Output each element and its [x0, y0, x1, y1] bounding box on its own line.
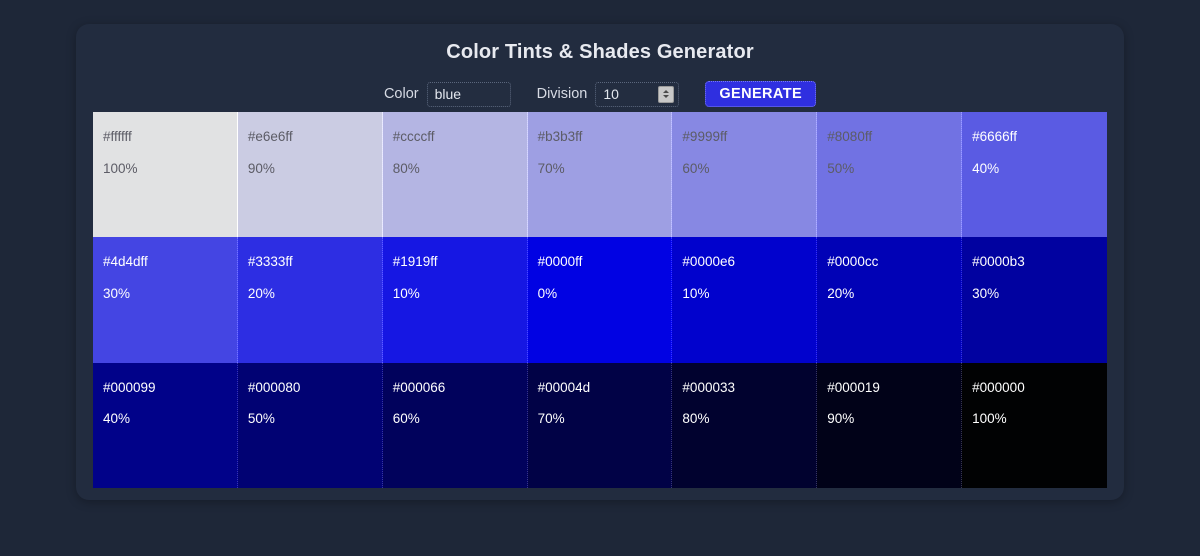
color-swatch[interactable]: #0000b330% — [962, 237, 1107, 362]
color-swatch[interactable]: #000000100% — [962, 363, 1107, 488]
color-swatch[interactable]: #00006660% — [383, 363, 528, 488]
color-swatch[interactable]: #00001990% — [817, 363, 962, 488]
swatch-hex-label: #000019 — [827, 381, 961, 395]
swatch-hex-label: #e6e6ff — [248, 130, 382, 144]
swatch-hex-label: #1919ff — [393, 255, 527, 269]
color-swatch[interactable]: #0000e610% — [672, 237, 817, 362]
caret-up-icon[interactable] — [663, 90, 669, 93]
swatch-percent-label: 10% — [682, 287, 816, 301]
swatch-percent-label: 70% — [538, 162, 672, 176]
color-swatch[interactable]: #1919ff10% — [383, 237, 528, 362]
color-swatch[interactable]: #00004d70% — [528, 363, 673, 488]
color-swatch[interactable]: #6666ff40% — [962, 112, 1107, 237]
color-swatch[interactable]: #ccccff80% — [383, 112, 528, 237]
swatch-hex-label: #9999ff — [682, 130, 816, 144]
generator-card: Color Tints & Shades Generator Color Div… — [76, 24, 1124, 500]
swatch-hex-label: #0000e6 — [682, 255, 816, 269]
swatch-hex-label: #00004d — [538, 381, 672, 395]
swatch-percent-label: 10% — [393, 287, 527, 301]
page-title: Color Tints & Shades Generator — [76, 24, 1124, 64]
swatch-hex-label: #3333ff — [248, 255, 382, 269]
number-spinner[interactable] — [658, 86, 674, 103]
swatch-percent-label: 40% — [972, 162, 1107, 176]
swatch-percent-label: 50% — [248, 412, 382, 426]
swatch-hex-label: #6666ff — [972, 130, 1107, 144]
swatch-hex-label: #000080 — [248, 381, 382, 395]
caret-down-icon[interactable] — [663, 95, 669, 98]
division-stepper[interactable] — [595, 82, 679, 107]
swatch-hex-label: #000000 — [972, 381, 1107, 395]
swatch-hex-label: #ffffff — [103, 130, 237, 144]
swatch-percent-label: 50% — [827, 162, 961, 176]
swatch-hex-label: #ccccff — [393, 130, 527, 144]
color-swatch[interactable]: #4d4dff30% — [93, 237, 238, 362]
color-swatch[interactable]: #00008050% — [238, 363, 383, 488]
color-swatch[interactable]: #3333ff20% — [238, 237, 383, 362]
swatch-percent-label: 60% — [682, 162, 816, 176]
app-root: Color Tints & Shades Generator Color Div… — [0, 0, 1200, 556]
division-label: Division — [537, 86, 588, 102]
color-label: Color — [384, 86, 419, 102]
swatch-percent-label: 100% — [972, 412, 1107, 426]
swatch-percent-label: 60% — [393, 412, 527, 426]
swatch-hex-label: #8080ff — [827, 130, 961, 144]
color-swatch[interactable]: #0000cc20% — [817, 237, 962, 362]
color-input[interactable] — [427, 82, 511, 107]
color-swatch[interactable]: #9999ff60% — [672, 112, 817, 237]
swatch-percent-label: 30% — [103, 287, 237, 301]
swatch-hex-label: #000066 — [393, 381, 527, 395]
color-swatch[interactable]: #8080ff50% — [817, 112, 962, 237]
color-swatch[interactable]: #00009940% — [93, 363, 238, 488]
swatch-percent-label: 90% — [248, 162, 382, 176]
color-swatch[interactable]: #00003380% — [672, 363, 817, 488]
swatch-hex-label: #b3b3ff — [538, 130, 672, 144]
controls-spacer — [511, 94, 537, 95]
swatch-percent-label: 40% — [103, 412, 237, 426]
swatch-percent-label: 80% — [393, 162, 527, 176]
swatch-hex-label: #000099 — [103, 381, 237, 395]
swatch-percent-label: 30% — [972, 287, 1107, 301]
swatch-percent-label: 70% — [538, 412, 672, 426]
swatch-percent-label: 20% — [827, 287, 961, 301]
swatch-percent-label: 90% — [827, 412, 961, 426]
generate-button[interactable]: GENERATE — [705, 81, 816, 107]
swatch-percent-label: 100% — [103, 162, 237, 176]
swatch-percent-label: 80% — [682, 412, 816, 426]
color-swatch[interactable]: #e6e6ff90% — [238, 112, 383, 237]
swatch-hex-label: #0000cc — [827, 255, 961, 269]
color-swatch[interactable]: #b3b3ff70% — [528, 112, 673, 237]
swatch-percent-label: 20% — [248, 287, 382, 301]
swatch-hex-label: #4d4dff — [103, 255, 237, 269]
swatch-hex-label: #0000b3 — [972, 255, 1107, 269]
swatch-hex-label: #000033 — [682, 381, 816, 395]
color-swatch[interactable]: #ffffff100% — [93, 112, 238, 237]
swatch-percent-label: 0% — [538, 287, 672, 301]
color-swatch[interactable]: #0000ff0% — [528, 237, 673, 362]
swatch-hex-label: #0000ff — [538, 255, 672, 269]
swatch-grid: #ffffff100%#e6e6ff90%#ccccff80%#b3b3ff70… — [93, 112, 1107, 488]
controls-bar: Color Division GENERATE — [76, 79, 1124, 109]
